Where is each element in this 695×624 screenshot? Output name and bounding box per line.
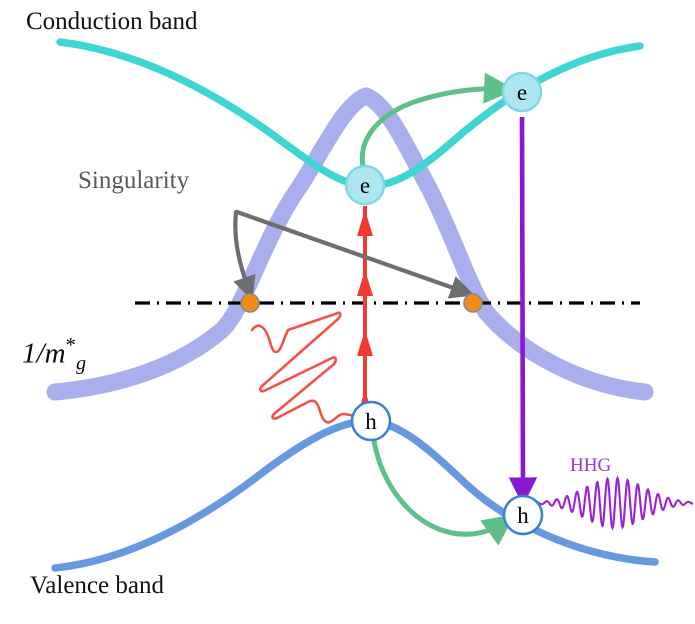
recombination-arrow[interactable] <box>522 117 523 492</box>
carrier-electron-upper[interactable]: e <box>503 73 541 111</box>
hhg-label: HHG <box>570 455 611 477</box>
carrier-electron-lower[interactable]: e <box>346 166 384 204</box>
hhg-wave-packet <box>537 478 693 528</box>
band-diagram-svg: e e h h <box>0 0 695 624</box>
effective-mass-label: 1/m*g <box>22 333 86 375</box>
effective-mass-symbol: m <box>45 338 66 370</box>
carrier-hole-left[interactable]: h <box>352 402 390 440</box>
electron-label: e <box>360 173 370 198</box>
hole-label: h <box>365 409 377 434</box>
carrier-hole-right[interactable]: h <box>504 496 542 534</box>
hole-label: h <box>517 503 529 528</box>
effective-mass-numerator: 1 <box>22 338 37 370</box>
singularity-dot-left <box>241 294 259 312</box>
effective-mass-slash: / <box>37 338 45 370</box>
photon-absorption-arrow <box>357 206 373 422</box>
driving-laser-pulse <box>252 313 356 423</box>
valence-band-curve <box>55 421 655 568</box>
effective-mass-subscript: g <box>76 352 86 374</box>
inverse-effective-mass-curve <box>55 96 645 392</box>
figure-canvas: e e h h Conduction band Valence band Sin… <box>0 0 695 624</box>
effective-mass-superscript: * <box>66 333 76 357</box>
electron-label: e <box>517 80 527 105</box>
singularity-dot-right <box>464 294 482 312</box>
valence-band-label: Valence band <box>30 572 164 600</box>
singularity-label: Singularity <box>78 167 189 195</box>
conduction-band-label: Conduction band <box>26 8 198 36</box>
